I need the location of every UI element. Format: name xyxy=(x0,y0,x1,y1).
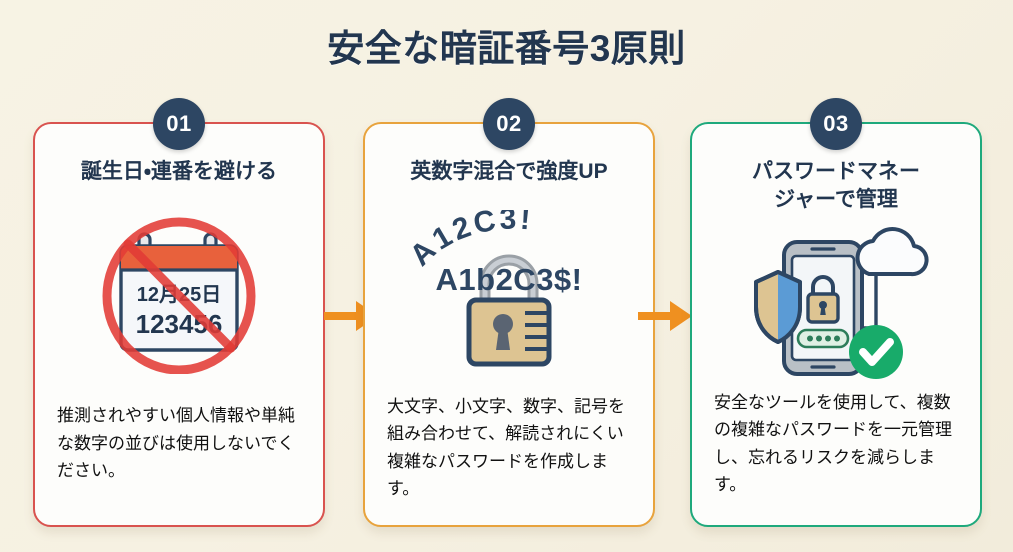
card-body-01: 推測されやすい個人情報や単純な数字の並びは使用しないでください。 xyxy=(57,402,307,485)
password-manager-icon xyxy=(726,224,946,384)
no-calendar-svg: 12月25日 123456 xyxy=(95,214,263,374)
step-badge-03: 03 xyxy=(810,98,862,150)
card-illustration-02: A12C3! A1 xyxy=(365,210,653,380)
password-manager-svg xyxy=(726,224,946,384)
password-example-text: A1b2C3$! xyxy=(394,262,624,298)
arrow-step-2-to-3 xyxy=(636,296,694,336)
card-step-01: 01 誕生日・連番を避ける 12月25日 123456 xyxy=(33,122,325,527)
step-badge-01: 01 xyxy=(153,98,205,150)
card-illustration-03 xyxy=(692,222,980,392)
card-body-02: 大文字、小文字、数字、記号を組み合わせて、解読されにくい複雑なパスワードを作成し… xyxy=(387,393,637,503)
right-arrow-icon xyxy=(636,296,694,336)
card-heading-01: 誕生日・連番を避ける xyxy=(49,158,309,186)
page-title: 安全な暗証番号3原則 xyxy=(0,18,1013,72)
no-calendar-icon: 12月25日 123456 xyxy=(95,214,263,374)
step-badge-02: 02 xyxy=(483,98,535,150)
padlock-password-icon: A12C3! A1 xyxy=(394,210,624,380)
card-step-02: 02 英数字混合で強度UP A12C3! xyxy=(363,122,655,527)
card-heading-02: 英数字混合で強度UP xyxy=(379,158,639,186)
card-body-03: 安全なツールを使用して、複数の複雑なパスワードを一元管理し、忘れるリスクを減らし… xyxy=(714,389,964,499)
card-heading-03: パスワードマネー ジャーで管理 xyxy=(706,158,966,213)
card-heading-03-line2: ジャーで管理 xyxy=(706,186,966,214)
card-illustration-01: 12月25日 123456 xyxy=(35,210,323,380)
card-step-03: 03 パスワードマネー ジャーで管理 xyxy=(690,122,982,527)
card-heading-03-line1: パスワードマネー xyxy=(706,158,966,186)
padlock-icon xyxy=(457,240,561,372)
infographic-canvas: 安全な暗証番号3原則 01 誕生日・連番を避ける 12月25日 123456 xyxy=(0,0,1013,552)
